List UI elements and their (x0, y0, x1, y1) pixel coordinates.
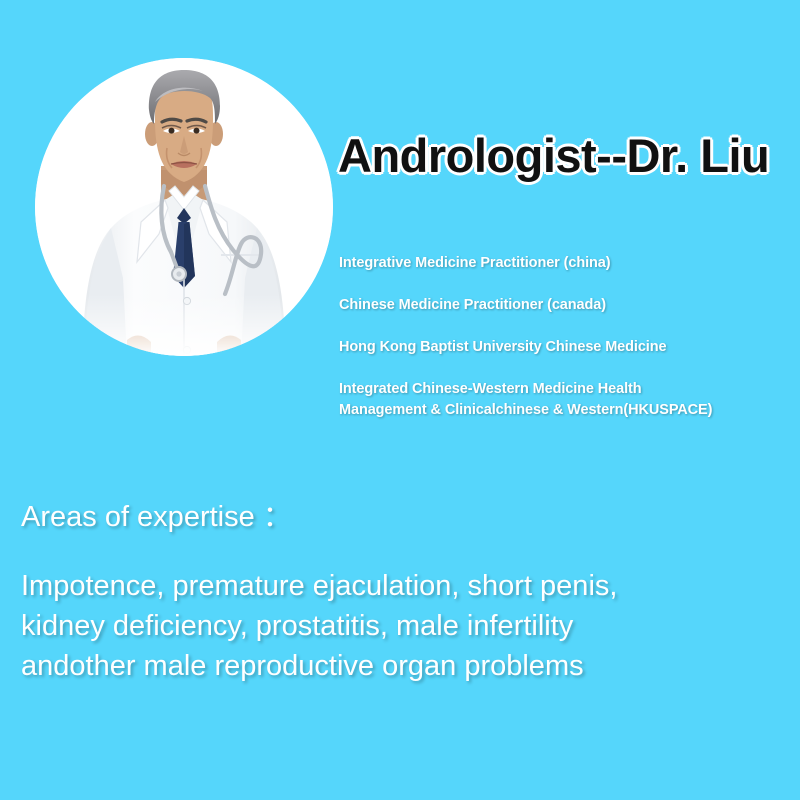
doctor-portrait-image (35, 58, 333, 356)
doctor-portrait-circle (35, 58, 333, 356)
expertise-line: kidney deficiency, prostatitis, male inf… (21, 606, 741, 646)
credential-item: Chinese Medicine Practitioner (canada) (339, 295, 759, 316)
credential-item: Management & Clinicalchinese & Western(H… (339, 400, 759, 421)
credentials-list: Integrative Medicine Practitioner (china… (339, 253, 759, 421)
credential-item: Hong Kong Baptist University Chinese Med… (339, 337, 759, 358)
page-title: Andrologist--Dr. Liu (338, 128, 769, 183)
expertise-line: andother male reproductive organ problem… (21, 646, 741, 686)
credential-item: Integrated Chinese-Western Medicine Heal… (339, 379, 759, 400)
doctor-profile-poster: Andrologist--Dr. Liu Integrative Medicin… (0, 0, 800, 800)
expertise-heading: Areas of expertise ： (21, 493, 292, 535)
credential-item: Integrative Medicine Practitioner (china… (339, 253, 759, 274)
expertise-line: Impotence, premature ejaculation, short … (21, 566, 741, 606)
expertise-list: Impotence, premature ejaculation, short … (21, 566, 741, 686)
